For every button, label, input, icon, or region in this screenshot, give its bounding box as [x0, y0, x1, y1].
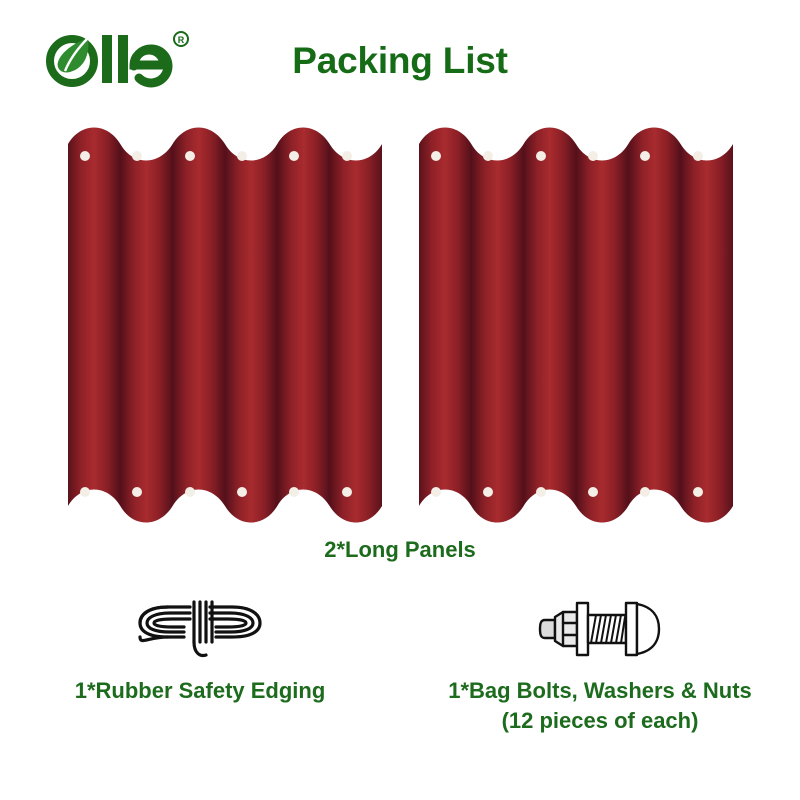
panel-right [419, 120, 733, 530]
part-rubber-edging-label: 1*Rubber Safety Edging [0, 676, 400, 706]
bolt-washer-nut-icon [400, 588, 800, 670]
page-title: Packing List [0, 40, 800, 82]
part-bolts-sublabel: (12 pieces of each) [400, 706, 800, 736]
panel-left [68, 120, 382, 530]
parts-row: 1*Rubber Safety Edging [0, 588, 800, 778]
panels-illustration-row [0, 120, 800, 530]
packing-list-page: R Packing List [0, 0, 800, 800]
panels-caption: 2*Long Panels [0, 537, 800, 563]
part-bolts-label: 1*Bag Bolts, Washers & Nuts [400, 676, 800, 706]
part-rubber-edging: 1*Rubber Safety Edging [0, 588, 400, 706]
part-bolts-washers-nuts: 1*Bag Bolts, Washers & Nuts (12 pieces o… [400, 588, 800, 737]
coiled-rubber-edging-icon [0, 588, 400, 670]
